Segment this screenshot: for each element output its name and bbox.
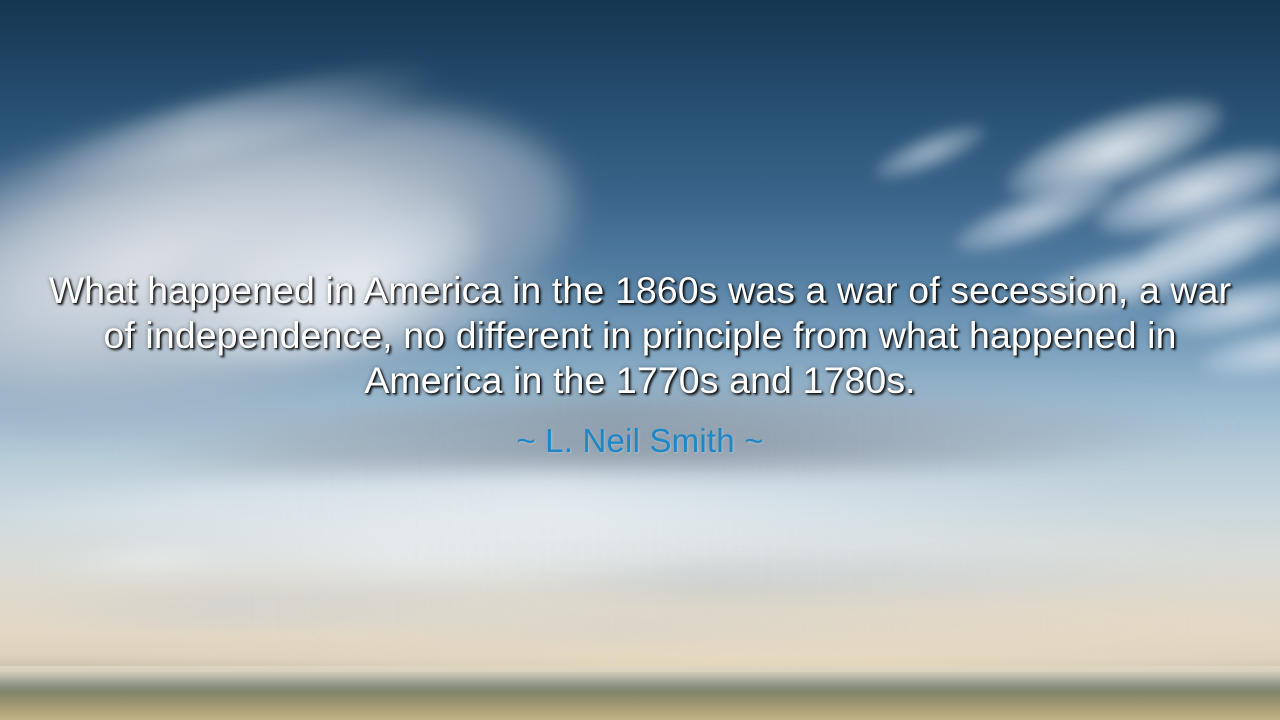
quote-text: What happened in America in the 1860s wa… bbox=[45, 268, 1235, 403]
quote-block: What happened in America in the 1860s wa… bbox=[0, 268, 1280, 461]
quote-attribution: ~ L. Neil Smith ~ bbox=[40, 421, 1240, 461]
horizon-haze bbox=[0, 666, 1280, 692]
quote-image-card: What happened in America in the 1860s wa… bbox=[0, 0, 1280, 720]
